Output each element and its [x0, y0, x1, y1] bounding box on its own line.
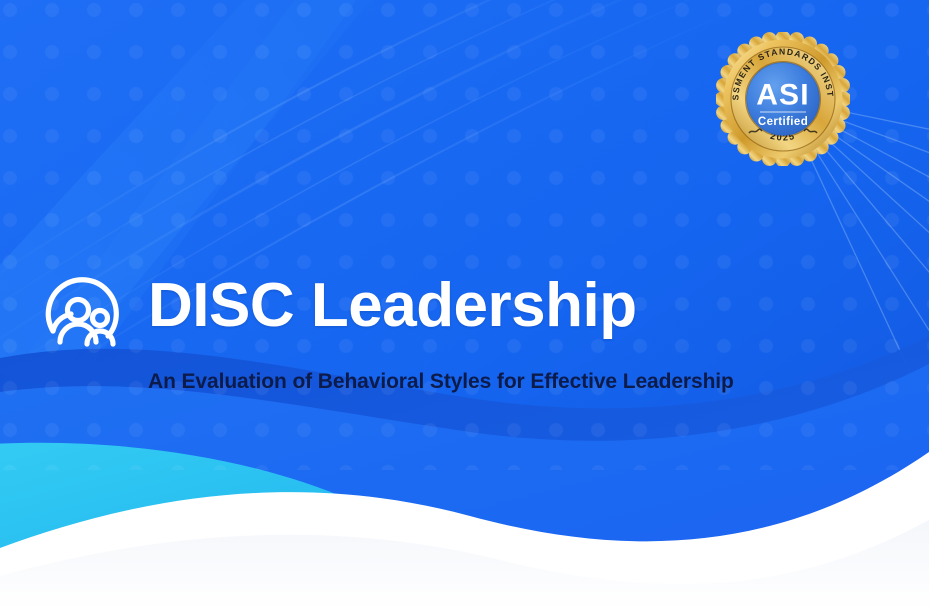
people-circle-icon	[36, 258, 132, 354]
certification-seal-icon: ASSESSMENT STANDARDS INSTITUTE 2025 ASI …	[716, 32, 850, 166]
certification-badge: ASSESSMENT STANDARDS INSTITUTE 2025 ASI …	[716, 32, 850, 166]
brand-logo	[36, 258, 132, 354]
report-cover-page: ASSESSMENT STANDARDS INSTITUTE 2025 ASI …	[0, 0, 929, 610]
page-title: DISC Leadership	[148, 275, 637, 337]
badge-acronym: ASI	[756, 79, 810, 112]
title-row: DISC Leadership	[36, 258, 896, 354]
badge-status: Certified	[758, 116, 808, 128]
cover-title-block: DISC Leadership An Evaluation of Behavio…	[36, 258, 896, 394]
page-subtitle: An Evaluation of Behavioral Styles for E…	[148, 370, 896, 394]
